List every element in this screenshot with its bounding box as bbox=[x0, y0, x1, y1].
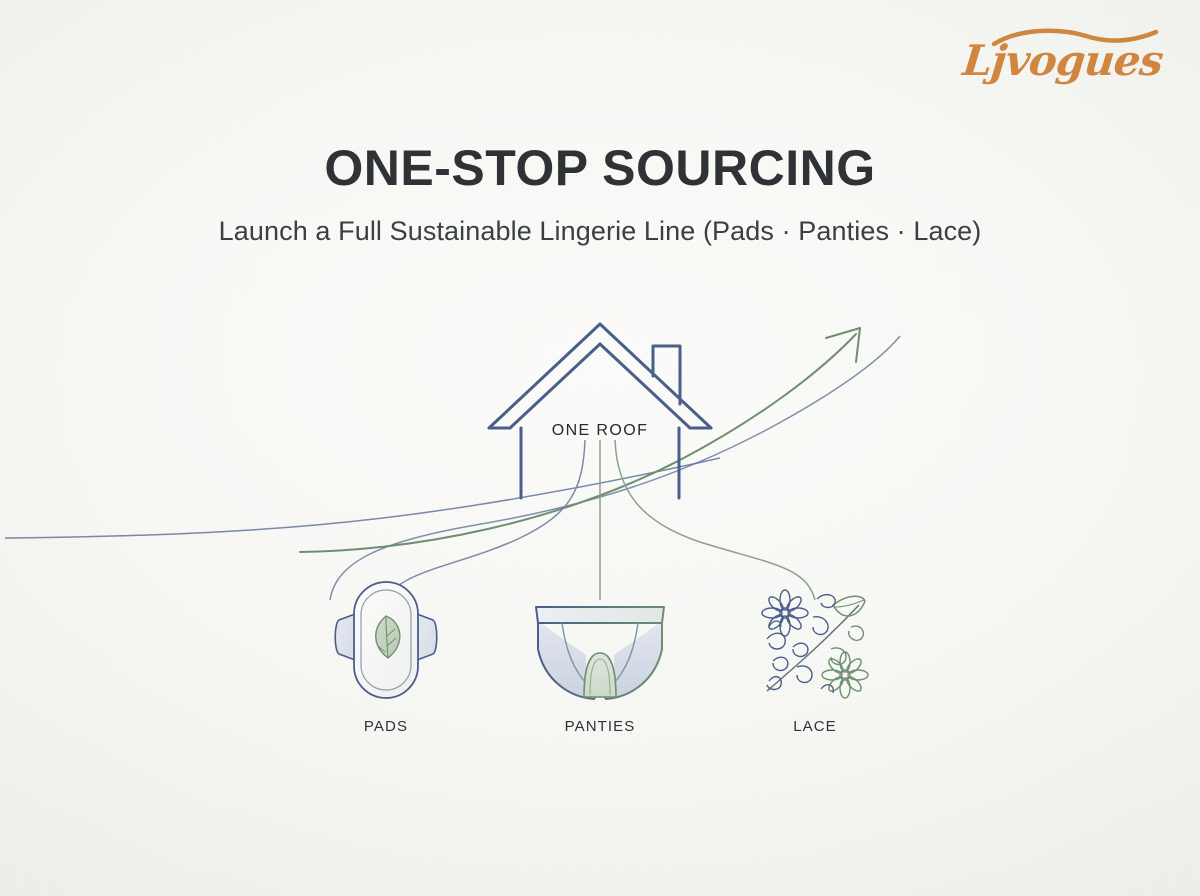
connector-pads bbox=[386, 440, 585, 600]
product-labels: PADS PANTIES LACE bbox=[0, 718, 1200, 748]
brand-logo: Ljvogues bbox=[964, 24, 1164, 96]
one-roof-label: ONE ROOF bbox=[0, 422, 1200, 440]
product-label-panties: PANTIES bbox=[500, 718, 700, 735]
sourcing-diagram bbox=[0, 300, 1200, 770]
header-block: ONE-STOP SOURCING Launch a Full Sustaina… bbox=[0, 142, 1200, 247]
branch-connectors bbox=[386, 440, 815, 600]
background-flow-line bbox=[5, 336, 900, 600]
poster-canvas: Ljvogues ONE-STOP SOURCING Launch a Full… bbox=[0, 0, 1200, 896]
product-label-pads: PADS bbox=[286, 718, 486, 735]
page-title: ONE-STOP SOURCING bbox=[0, 142, 1200, 195]
product-label-lace: LACE bbox=[715, 718, 915, 735]
page-subtitle: Launch a Full Sustainable Lingerie Line … bbox=[0, 216, 1200, 247]
sanitary-pad-icon bbox=[335, 582, 437, 698]
panties-icon bbox=[536, 607, 664, 699]
connector-lace bbox=[615, 440, 815, 600]
brand-name: Ljvogues bbox=[960, 36, 1165, 85]
lace-floral-icon bbox=[762, 590, 868, 698]
